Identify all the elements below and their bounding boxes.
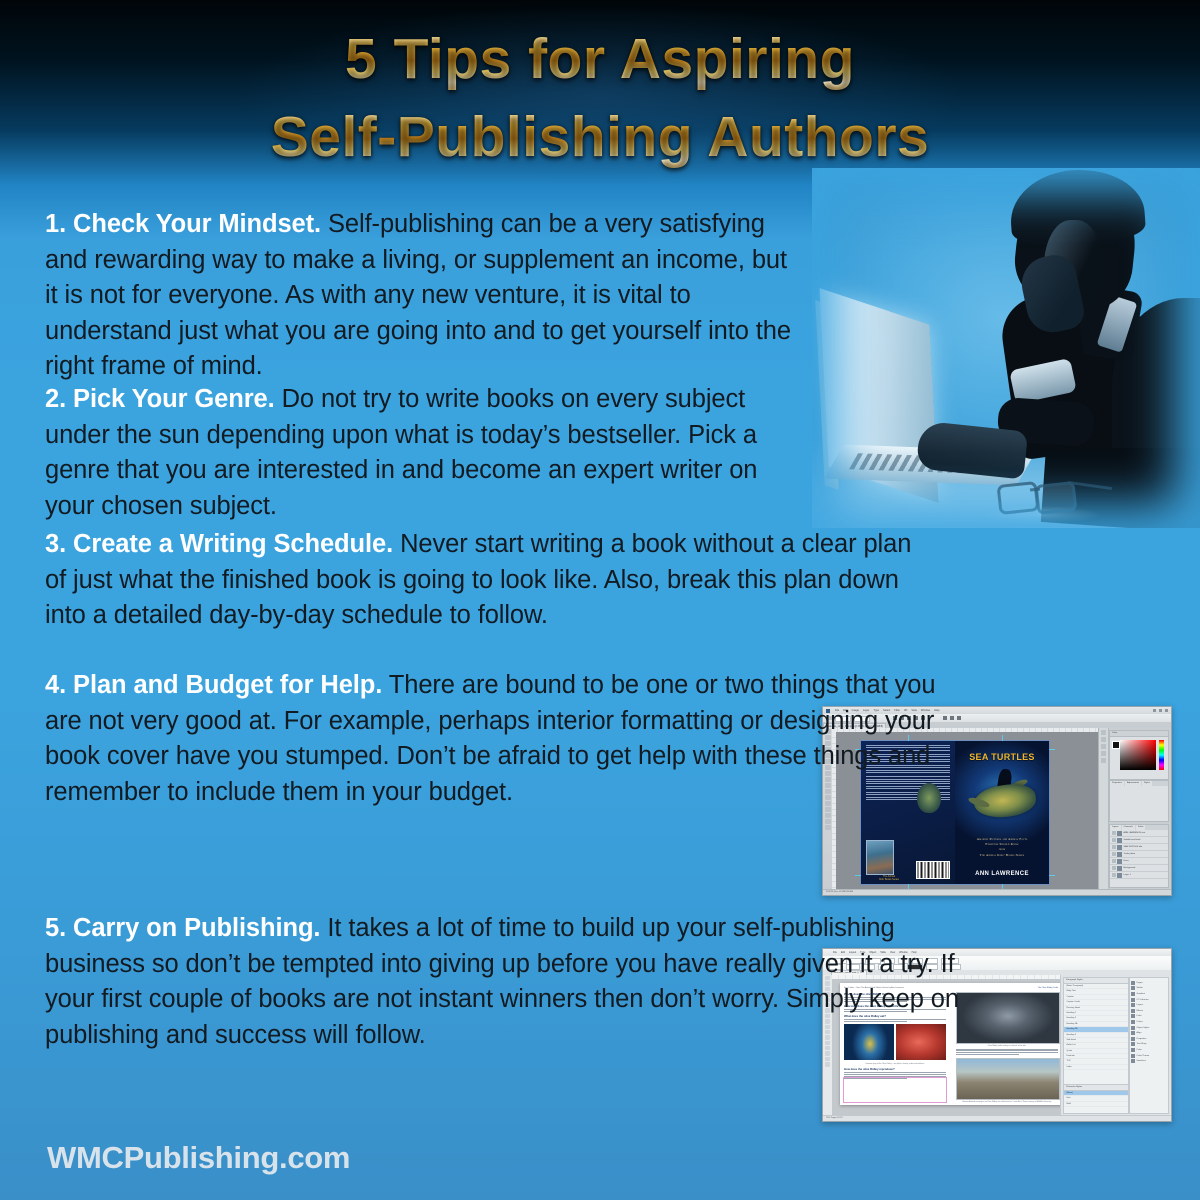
cover-subtitle-line-4: The Animal Kids’ Books Series [959, 853, 1045, 858]
paragraph-styles-panel[interactable]: Paragraph Styles [Basic Paragraph] Body … [1063, 977, 1129, 1087]
tip-item-1: 1. Check Your Mindset. Self-publishing c… [45, 207, 805, 385]
isbn-barcode [916, 861, 950, 879]
panel-label: CC Libraries [1137, 999, 1149, 1001]
pages-icon [1131, 981, 1135, 985]
gradient-icon [1131, 992, 1135, 996]
align-icon [1131, 1031, 1135, 1035]
tab-styles[interactable]: Styles [1142, 781, 1152, 786]
maximize-icon[interactable] [1159, 709, 1162, 712]
tip-heading-3: 3. Create a Writing Schedule. [45, 530, 393, 558]
panel-label: Properties [1137, 1038, 1147, 1040]
layer-name: Diver [1124, 860, 1129, 862]
layer-visibility-icon[interactable] [1112, 845, 1116, 849]
swatches-icon [1131, 1059, 1135, 1063]
layer-name: Subtitle text block [1124, 839, 1141, 841]
layer-visibility-icon[interactable] [1112, 852, 1116, 856]
tip-heading-2: 2. Pick Your Genre. [45, 385, 275, 413]
cc-libraries-icon [1131, 998, 1135, 1002]
tab-paths[interactable]: Paths [1136, 825, 1146, 830]
properties-panel[interactable]: Properties Adjustments Styles [1109, 780, 1169, 822]
photo-man-at-laptop [812, 168, 1200, 528]
page-title: 5 Tips for Aspiring Self-Publishing Auth… [0, 20, 1200, 176]
color-theme-icon [1131, 1054, 1135, 1058]
navigator-panel-icon[interactable] [1101, 758, 1106, 763]
cover-title: SEA TURTLES [955, 752, 1049, 762]
layer-thumbnail [1117, 873, 1122, 878]
zoom-tool-icon[interactable] [825, 825, 831, 830]
body-paragraph [956, 1049, 1058, 1056]
layer-name: Layer 1 [1124, 874, 1131, 876]
character-styles-panel[interactable]: Character Styles [None] Italic Bold [1063, 1084, 1129, 1114]
tip-item-4: 4. Plan and Budget for Help. There are b… [45, 668, 945, 810]
tip-heading-1: 1. Check Your Mindset. [45, 210, 321, 238]
info-panel-icon[interactable] [1101, 751, 1106, 756]
glasses-left-lens [997, 481, 1040, 515]
indesign-panel-dock[interactable]: Paragraph Styles [Basic Paragraph] Body … [1060, 975, 1171, 1116]
photoshop-panel-dock[interactable]: Color Properties Adjustments Styles Laye… [1098, 728, 1171, 890]
minimize-icon[interactable] [1153, 709, 1156, 712]
hand-tool-icon[interactable] [825, 819, 831, 824]
photoshop-statusbar: 33.33% Doc: 42.3M/118.6M [823, 889, 1172, 895]
properties-icon [1131, 1037, 1135, 1041]
layer-visibility-icon[interactable] [1112, 873, 1116, 877]
series-line-2: Kids’ Books Series [869, 878, 909, 881]
title-line-1: 5 Tips for Aspiring [0, 20, 1200, 98]
history-panel-icon[interactable] [1101, 730, 1106, 735]
layer-thumbnail [1117, 866, 1122, 871]
color-panel[interactable]: Color [1109, 730, 1169, 780]
panel-label: Swatches [1137, 1060, 1146, 1062]
panel-label: Stroke [1137, 987, 1143, 989]
panel-icon-rail[interactable] [1099, 728, 1109, 890]
layer-thumbnail [1117, 838, 1122, 843]
glasses-right-lens [1035, 481, 1078, 515]
layer-thumbnail [1117, 831, 1122, 836]
tip-item-2: 2. Pick Your Genre. Do not try to write … [45, 382, 790, 524]
layer-visibility-icon[interactable] [1112, 838, 1116, 842]
image-caption-top: Olive Ridley turtle resting on a beach a… [956, 1045, 1058, 1047]
panel-label: Color [1137, 1049, 1142, 1051]
infographic-canvas: 5 Tips for Aspiring Self-Publishing Auth… [0, 0, 1200, 1200]
tab-adjustments[interactable]: Adjustments [1125, 781, 1141, 786]
arribada-nesting-beach-photo[interactable] [956, 1058, 1060, 1100]
stroke-icon [1131, 986, 1135, 990]
color-picker-field[interactable] [1120, 740, 1156, 770]
brushes-panel-icon[interactable] [1101, 744, 1106, 749]
book-front-cover: SEA TURTLES Amazing Pictures and Animal … [955, 741, 1049, 884]
hue-slider[interactable] [1159, 740, 1164, 770]
panel-icon-swatches[interactable]: Swatches [1131, 1058, 1167, 1064]
indesign-statusbar: 75% Pages 12-13 [823, 1115, 1172, 1121]
panel-label: Colors [1137, 1021, 1143, 1023]
image-caption: Common prey of the Olive Ridley – sea je… [844, 1063, 946, 1065]
links-icon [1131, 1014, 1135, 1018]
properties-panel-tabs[interactable]: Properties Adjustments Styles [1110, 781, 1168, 786]
object-styles-icon [1131, 1026, 1135, 1030]
brand-footer: WMCPublishing.com [47, 1140, 350, 1176]
panel-label: Layers [1137, 1004, 1144, 1006]
char-style-row[interactable]: Bold [1064, 1102, 1128, 1107]
tip-heading-4: 4. Plan and Budget for Help. [45, 671, 382, 699]
panel-label: Effects [1137, 1010, 1144, 1012]
zoom-tool-icon[interactable] [825, 1062, 830, 1066]
shape-tool-icon[interactable] [825, 813, 831, 818]
tip-item-3: 3. Create a Writing Schedule. Never star… [45, 527, 920, 634]
color-icon [1131, 1048, 1135, 1052]
back-cover-series-text: The Animal Kids’ Books Series [869, 875, 909, 881]
layer-name: SEA TURTLES title [1124, 846, 1143, 848]
tip-item-5: 5. Carry on Publishing. It takes a lot o… [45, 911, 970, 1053]
warp-icon[interactable] [950, 716, 954, 720]
layer-name: Background [1124, 867, 1136, 869]
panel-label: Color Theme [1137, 1055, 1150, 1057]
layer-thumbnail [1117, 859, 1122, 864]
page-heading: How does the olive Ridley reproduce? [844, 1067, 946, 1071]
panel-label: Object Styles [1137, 1027, 1150, 1029]
panel-icon-rail[interactable]: Pages Stroke Gradient CC Libraries Layer… [1129, 977, 1169, 1114]
layer-thumbnail [1117, 845, 1122, 850]
running-head-right: The Olive Ridley Turtle [956, 987, 1058, 989]
text-wrap-icon [1131, 1042, 1135, 1046]
panel-label: Links [1137, 1015, 1142, 1017]
author-photo [866, 840, 894, 875]
hand-tool-icon[interactable] [825, 1057, 830, 1061]
layers-icon [1131, 1003, 1135, 1007]
colors-icon [1131, 1020, 1135, 1024]
tab-properties[interactable]: Properties [1110, 781, 1124, 786]
title-line-2: Self-Publishing Authors [0, 98, 1200, 176]
image-caption-bottom: A mass Arribada nesting on an Olive Ridl… [956, 1101, 1058, 1103]
olive-ridley-turtle-photo[interactable] [956, 992, 1060, 1044]
layer-row[interactable]: Layer 1 [1110, 872, 1168, 879]
layer-row[interactable]: Diver [1110, 858, 1168, 865]
style-row[interactable]: Index [1064, 1065, 1128, 1070]
panel-label: Text Wrap [1137, 1043, 1147, 1045]
tab-layers[interactable]: Layers [1110, 825, 1121, 830]
commit-icon[interactable] [957, 716, 961, 720]
window-controls[interactable] [1153, 709, 1168, 712]
close-icon[interactable] [1165, 709, 1168, 712]
layer-row[interactable]: SEA TURTLES title [1110, 844, 1168, 851]
layer-row[interactable]: Subtitle text block [1110, 837, 1168, 844]
panel-label: Pages [1137, 982, 1143, 984]
panel-label: Align [1137, 1032, 1142, 1034]
foreground-color-swatch[interactable] [1112, 741, 1120, 749]
actions-panel-icon[interactable] [1101, 737, 1106, 742]
color-panel-header: Color [1110, 731, 1168, 737]
effects-icon [1131, 1009, 1135, 1013]
layer-visibility-icon[interactable] [1112, 866, 1116, 870]
tip-heading-5: 5. Carry on Publishing. [45, 914, 320, 942]
layer-row[interactable]: ANN LAWRENCE text [1110, 830, 1168, 837]
layer-thumbnail [1117, 852, 1122, 857]
layer-row[interactable]: Turtle photo [1110, 851, 1168, 858]
layer-visibility-icon[interactable] [1112, 831, 1116, 835]
cover-author-name: ANN LAWRENCE [955, 871, 1049, 877]
panel-label: Gradient [1137, 993, 1145, 995]
layer-name: Turtle photo [1124, 853, 1136, 855]
text-frame-outline[interactable] [843, 1077, 947, 1103]
layer-visibility-icon[interactable] [1112, 859, 1116, 863]
layer-name: ANN LAWRENCE text [1124, 832, 1146, 834]
layers-panel[interactable]: Layers Channels Paths ANN LAWRENCE text … [1109, 824, 1169, 888]
layer-row[interactable]: Background [1110, 865, 1168, 872]
cover-subtitle: Amazing Pictures and Animal Facts Everyo… [959, 837, 1045, 858]
tab-channels[interactable]: Channels [1122, 825, 1135, 830]
